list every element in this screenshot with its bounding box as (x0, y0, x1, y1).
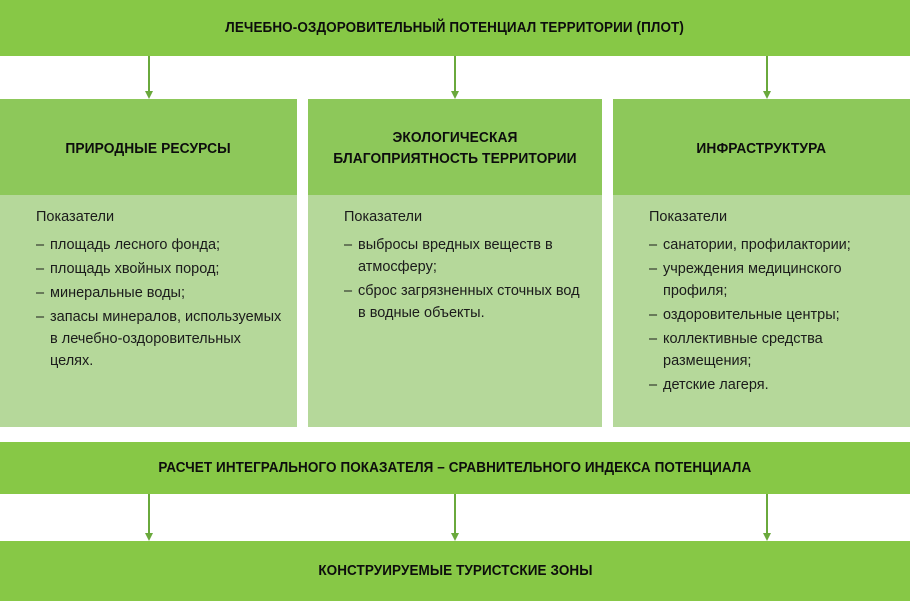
arrow-top-to-column-3 (766, 56, 768, 92)
column-1-indicators-label: Показатели (36, 210, 283, 225)
list-item: –площадь хвойных пород; (36, 258, 283, 280)
arrow-top-to-column-2 (454, 56, 456, 92)
list-item: –коллективные средства размещения; (649, 328, 896, 372)
list-item: –санатории, профилактории; (649, 234, 896, 256)
column-infrastructure: ИНФРАСТРУКТУРА Показатели –санатории, пр… (613, 99, 910, 427)
list-item-text: детские лагеря. (663, 377, 769, 393)
column-2-title: ЭКОЛОГИЧЕСКАЯ БЛАГОПРИЯТНОСТЬ ТЕРРИТОРИИ (327, 128, 584, 169)
middle-banner-title: РАСЧЕТ ИНТЕГРАЛЬНОГО ПОКАЗАТЕЛЯ – СРАВНИ… (159, 460, 752, 477)
list-item-text: сброс загрязненных сточных вод в водные … (358, 283, 580, 321)
list-item-text: санатории, профилактории; (663, 237, 851, 253)
list-item-text: запасы минералов, используемых в лечебно… (50, 309, 281, 369)
arrow-top-to-column-1 (148, 56, 150, 92)
top-banner-title: ЛЕЧЕБНО-ОЗДОРОВИТЕЛЬНЫЙ ПОТЕНЦИАЛ ТЕРРИТ… (226, 20, 685, 37)
dash-bullet-icon: – (649, 374, 657, 396)
list-item-text: площадь лесного фонда; (50, 237, 220, 253)
column-1-indicator-list: –площадь лесного фонда; –площадь хвойных… (36, 234, 283, 372)
bottom-banner: КОНСТРУИРУЕМЫЕ ТУРИСТСКИЕ ЗОНЫ (0, 541, 910, 601)
column-1-body: Показатели –площадь лесного фонда; –площ… (0, 195, 297, 427)
column-ecological-favorability: ЭКОЛОГИЧЕСКАЯ БЛАГОПРИЯТНОСТЬ ТЕРРИТОРИИ… (308, 99, 602, 427)
dash-bullet-icon: – (649, 234, 657, 256)
column-2-indicators-label: Показатели (344, 210, 588, 225)
list-item: –выбросы вредных веществ в атмосферу; (344, 234, 588, 278)
middle-banner: РАСЧЕТ ИНТЕГРАЛЬНОГО ПОКАЗАТЕЛЯ – СРАВНИ… (0, 442, 910, 494)
dash-bullet-icon: – (649, 304, 657, 326)
top-banner: ЛЕЧЕБНО-ОЗДОРОВИТЕЛЬНЫЙ ПОТЕНЦИАЛ ТЕРРИТ… (0, 0, 910, 56)
list-item: –минеральные воды; (36, 282, 283, 304)
column-3-title: ИНФРАСТРУКТУРА (697, 139, 827, 160)
column-3-indicators-label: Показатели (649, 210, 896, 225)
dash-bullet-icon: – (36, 258, 44, 280)
dash-bullet-icon: – (36, 306, 44, 328)
list-item: –детские лагеря. (649, 374, 896, 396)
arrowhead-icon (763, 533, 771, 541)
dash-bullet-icon: – (36, 234, 44, 256)
list-item: –оздоровительные центры; (649, 304, 896, 326)
column-2-header: ЭКОЛОГИЧЕСКАЯ БЛАГОПРИЯТНОСТЬ ТЕРРИТОРИИ (308, 99, 602, 195)
list-item-text: минеральные воды; (50, 285, 185, 301)
arrowhead-icon (763, 91, 771, 99)
list-item: –запасы минералов, используемых в лечебн… (36, 306, 283, 372)
list-item-text: коллективные средства размещения; (663, 331, 823, 369)
arrowhead-icon (145, 91, 153, 99)
column-3-body: Показатели –санатории, профилактории; –у… (613, 195, 910, 427)
list-item: –сброс загрязненных сточных вод в водные… (344, 280, 588, 324)
column-3-indicator-list: –санатории, профилактории; –учреждения м… (649, 234, 896, 396)
list-item-text: площадь хвойных пород; (50, 261, 219, 277)
dash-bullet-icon: – (36, 282, 44, 304)
arrowhead-icon (451, 533, 459, 541)
column-2-body: Показатели –выбросы вредных веществ в ат… (308, 195, 602, 427)
arrow-middle-to-bottom-1 (148, 494, 150, 534)
column-natural-resources: ПРИРОДНЫЕ РЕСУРСЫ Показатели –площадь ле… (0, 99, 297, 427)
dash-bullet-icon: – (344, 280, 352, 302)
column-1-title: ПРИРОДНЫЕ РЕСУРСЫ (66, 139, 231, 160)
arrow-middle-to-bottom-2 (454, 494, 456, 534)
column-3-header: ИНФРАСТРУКТУРА (613, 99, 910, 195)
diagram-canvas: ЛЕЧЕБНО-ОЗДОРОВИТЕЛЬНЫЙ ПОТЕНЦИАЛ ТЕРРИТ… (0, 0, 910, 601)
column-2-indicator-list: –выбросы вредных веществ в атмосферу; –с… (344, 234, 588, 324)
list-item-text: выбросы вредных веществ в атмосферу; (358, 237, 553, 275)
list-item: –учреждения медицинского профиля; (649, 258, 896, 302)
arrow-middle-to-bottom-3 (766, 494, 768, 534)
list-item: –площадь лесного фонда; (36, 234, 283, 256)
dash-bullet-icon: – (649, 328, 657, 350)
arrowhead-icon (451, 91, 459, 99)
bottom-banner-title: КОНСТРУИРУЕМЫЕ ТУРИСТСКИЕ ЗОНЫ (318, 563, 592, 580)
dash-bullet-icon: – (344, 234, 352, 256)
list-item-text: учреждения медицинского профиля; (663, 261, 842, 299)
column-1-header: ПРИРОДНЫЕ РЕСУРСЫ (0, 99, 297, 195)
dash-bullet-icon: – (649, 258, 657, 280)
arrowhead-icon (145, 533, 153, 541)
list-item-text: оздоровительные центры; (663, 307, 840, 323)
